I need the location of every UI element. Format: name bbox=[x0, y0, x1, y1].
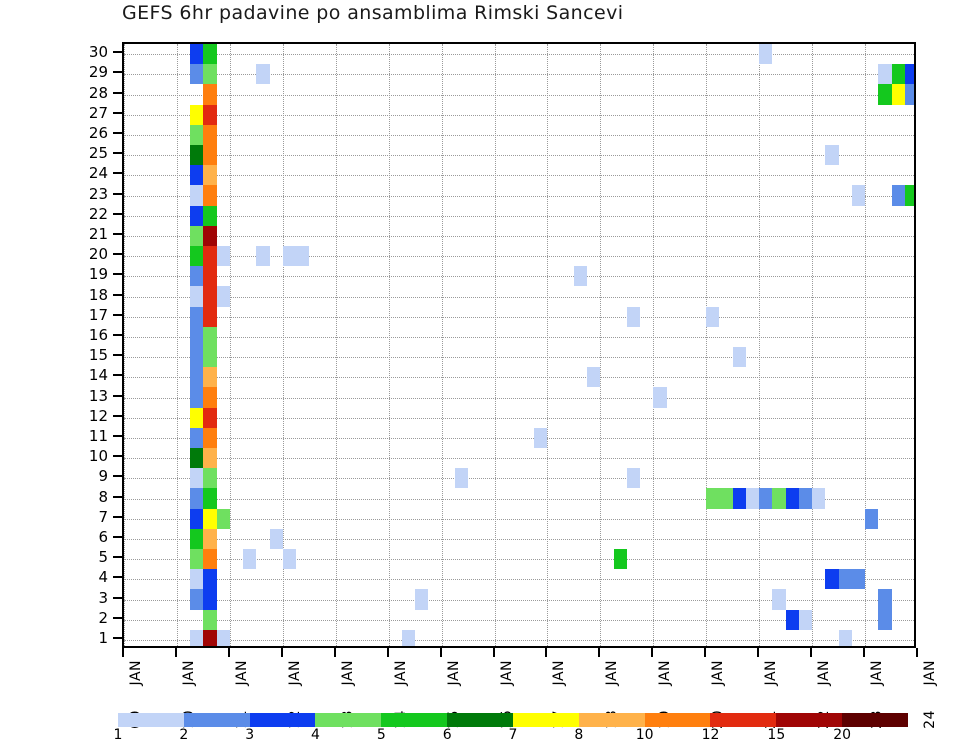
heatmap-cell bbox=[203, 509, 216, 529]
colorbar-tick-label: 20 bbox=[833, 727, 851, 743]
heatmap-cell bbox=[190, 509, 203, 529]
heatmap-cell bbox=[799, 488, 812, 508]
heatmap-cell bbox=[190, 105, 203, 125]
heatmap-cell bbox=[190, 165, 203, 185]
y-tick-mark bbox=[113, 92, 122, 94]
heatmap-cell bbox=[190, 367, 203, 387]
y-tick-label: 10 bbox=[89, 447, 108, 465]
heatmap-cell bbox=[402, 630, 415, 648]
x-tick-mark bbox=[122, 648, 124, 657]
y-tick-label: 27 bbox=[89, 104, 108, 122]
heatmap-cell bbox=[217, 246, 230, 266]
heatmap-cell bbox=[203, 206, 216, 226]
y-tick-label: 3 bbox=[98, 589, 108, 607]
y-tick-mark bbox=[113, 556, 122, 558]
x-tick-month-label: JAN bbox=[393, 660, 409, 685]
y-tick-mark bbox=[113, 516, 122, 518]
x-tick-month-label: JAN bbox=[128, 660, 144, 685]
y-tick-mark bbox=[113, 334, 122, 336]
gefs-precipitation-ensemble-chart: GEFS 6hr padavine po ansamblima Rimski S… bbox=[0, 0, 960, 742]
heatmap-cell bbox=[772, 488, 785, 508]
colorbar-band bbox=[184, 713, 250, 727]
heatmap-cell bbox=[190, 185, 203, 205]
heatmap-cell bbox=[786, 488, 799, 508]
heatmap-cell bbox=[190, 468, 203, 488]
heatmap-cell bbox=[203, 226, 216, 246]
y-tick-label: 29 bbox=[89, 63, 108, 81]
heatmap-cell bbox=[203, 125, 216, 145]
colorbar-band bbox=[447, 713, 513, 727]
heatmap-cell bbox=[190, 206, 203, 226]
heatmap-cell bbox=[706, 307, 719, 327]
colorbar-tick-label: 10 bbox=[636, 727, 654, 743]
x-tick-month-label: JAN bbox=[551, 660, 567, 685]
y-tick-label: 20 bbox=[89, 245, 108, 263]
y-tick-label: 17 bbox=[89, 306, 108, 324]
heatmap-cell bbox=[203, 448, 216, 468]
x-tick-mark bbox=[281, 648, 283, 657]
colorbar bbox=[118, 713, 908, 727]
heatmap-cell bbox=[203, 185, 216, 205]
heatmap-cell bbox=[203, 286, 216, 306]
heatmap-cell bbox=[772, 589, 785, 609]
heatmap-cell bbox=[614, 549, 627, 569]
y-tick-mark bbox=[113, 637, 122, 639]
heatmap-cell bbox=[190, 589, 203, 609]
colorbar-band bbox=[118, 713, 184, 727]
colorbar-band bbox=[579, 713, 645, 727]
x-tick-month-label: JAN bbox=[657, 660, 673, 685]
heatmap-cell bbox=[203, 44, 216, 64]
heatmap-cell bbox=[455, 468, 468, 488]
heatmap-cell bbox=[733, 347, 746, 367]
colorbar-band bbox=[315, 713, 381, 727]
heatmap-cell bbox=[190, 529, 203, 549]
colorbar-tick-label: 15 bbox=[767, 727, 785, 743]
heatmap-cell bbox=[190, 428, 203, 448]
heatmap-cell bbox=[905, 64, 916, 84]
y-tick-label: 15 bbox=[89, 346, 108, 364]
colorbar-band bbox=[381, 713, 447, 727]
heatmap-cells bbox=[124, 44, 914, 646]
y-tick-mark bbox=[113, 314, 122, 316]
y-tick-mark bbox=[113, 273, 122, 275]
x-tick-month-label: JAN bbox=[287, 660, 303, 685]
heatmap-cell bbox=[534, 428, 547, 448]
x-tick-mark bbox=[228, 648, 230, 657]
y-tick-mark bbox=[113, 617, 122, 619]
x-tick-month-label: JAN bbox=[499, 660, 515, 685]
colorbar-band bbox=[250, 713, 316, 727]
y-tick-mark bbox=[113, 475, 122, 477]
x-tick-mark bbox=[651, 648, 653, 657]
heatmap-cell bbox=[217, 630, 230, 648]
heatmap-cell bbox=[733, 488, 746, 508]
y-tick-mark bbox=[113, 112, 122, 114]
heatmap-cell bbox=[203, 367, 216, 387]
heatmap-cell bbox=[759, 44, 772, 64]
x-tick-mark bbox=[704, 648, 706, 657]
y-tick-label: 9 bbox=[98, 467, 108, 485]
heatmap-cell bbox=[270, 529, 283, 549]
colorbar-tick-label: 6 bbox=[443, 727, 452, 743]
colorbar-tick-labels: 1234567810121520 bbox=[118, 727, 908, 745]
heatmap-cell bbox=[203, 488, 216, 508]
heatmap-cell bbox=[878, 610, 891, 630]
y-tick-label: 6 bbox=[98, 528, 108, 546]
heatmap-cell bbox=[190, 387, 203, 407]
heatmap-cell bbox=[203, 610, 216, 630]
y-tick-label: 26 bbox=[89, 124, 108, 142]
heatmap-cell bbox=[190, 569, 203, 589]
x-tick-month-label: JAN bbox=[763, 660, 779, 685]
x-tick-mark bbox=[334, 648, 336, 657]
y-tick-mark bbox=[113, 253, 122, 255]
heatmap-cell bbox=[190, 44, 203, 64]
x-tick-month-label: JAN bbox=[340, 660, 356, 685]
x-tick-mark bbox=[916, 648, 918, 657]
heatmap-cell bbox=[190, 145, 203, 165]
y-tick-mark bbox=[113, 172, 122, 174]
y-tick-mark bbox=[113, 374, 122, 376]
x-tick-mark bbox=[175, 648, 177, 657]
y-tick-mark bbox=[113, 415, 122, 417]
y-tick-label: 22 bbox=[89, 205, 108, 223]
heatmap-cell bbox=[203, 307, 216, 327]
y-tick-mark bbox=[113, 213, 122, 215]
heatmap-cell bbox=[825, 145, 838, 165]
heatmap-cell bbox=[203, 589, 216, 609]
heatmap-cell bbox=[627, 307, 640, 327]
heatmap-cell bbox=[852, 185, 865, 205]
x-tick-month-label: JAN bbox=[181, 660, 197, 685]
y-tick-mark bbox=[113, 233, 122, 235]
heatmap-cell bbox=[786, 610, 799, 630]
heatmap-cell bbox=[190, 307, 203, 327]
y-axis: 3029282726252423222120191817161514131211… bbox=[60, 42, 122, 648]
x-tick-mark bbox=[863, 648, 865, 657]
heatmap-cell bbox=[839, 630, 852, 648]
y-tick-mark bbox=[113, 354, 122, 356]
plot-area bbox=[122, 42, 916, 648]
heatmap-cell bbox=[203, 64, 216, 84]
heatmap-cell bbox=[190, 286, 203, 306]
heatmap-cell bbox=[574, 266, 587, 286]
heatmap-cell bbox=[190, 488, 203, 508]
heatmap-cell bbox=[190, 448, 203, 468]
colorbar-tick-label: 3 bbox=[245, 727, 254, 743]
heatmap-cell bbox=[812, 488, 825, 508]
heatmap-cell bbox=[203, 408, 216, 428]
colorbar-tick-label: 8 bbox=[574, 727, 583, 743]
y-tick-label: 23 bbox=[89, 185, 108, 203]
x-tick-mark bbox=[545, 648, 547, 657]
heatmap-cell bbox=[627, 468, 640, 488]
heatmap-cell bbox=[203, 428, 216, 448]
x-tick-month-label: JAN bbox=[710, 660, 726, 685]
heatmap-cell bbox=[653, 387, 666, 407]
y-tick-label: 21 bbox=[89, 225, 108, 243]
x-tick-mark bbox=[493, 648, 495, 657]
y-tick-label: 1 bbox=[98, 629, 108, 647]
heatmap-cell bbox=[203, 630, 216, 648]
heatmap-cell bbox=[190, 246, 203, 266]
heatmap-cell bbox=[283, 549, 296, 569]
y-tick-mark bbox=[113, 152, 122, 154]
x-tick-month-label: JAN bbox=[869, 660, 885, 685]
x-tick-month-label: JAN bbox=[604, 660, 620, 685]
y-tick-label: 14 bbox=[89, 366, 108, 384]
y-tick-mark bbox=[113, 294, 122, 296]
heatmap-cell bbox=[799, 610, 812, 630]
colorbar-band bbox=[842, 713, 908, 727]
colorbar-tick-label: 12 bbox=[702, 727, 720, 743]
y-tick-label: 28 bbox=[89, 84, 108, 102]
heatmap-cell bbox=[892, 84, 905, 104]
y-tick-mark bbox=[113, 435, 122, 437]
heatmap-cell bbox=[203, 529, 216, 549]
colorbar-tick-label: 7 bbox=[509, 727, 518, 743]
y-tick-label: 8 bbox=[98, 488, 108, 506]
heatmap-cell bbox=[190, 630, 203, 648]
y-tick-label: 2 bbox=[98, 609, 108, 627]
heatmap-cell bbox=[190, 226, 203, 246]
x-tick-month-label: JAN bbox=[922, 660, 938, 685]
heatmap-cell bbox=[190, 64, 203, 84]
y-tick-label: 25 bbox=[89, 144, 108, 162]
y-tick-mark bbox=[113, 536, 122, 538]
heatmap-cell bbox=[203, 549, 216, 569]
chart-title: GEFS 6hr padavine po ansamblima Rimski S… bbox=[122, 2, 922, 24]
y-tick-label: 4 bbox=[98, 568, 108, 586]
colorbar-band bbox=[776, 713, 842, 727]
x-tick-mark bbox=[757, 648, 759, 657]
heatmap-cell bbox=[217, 286, 230, 306]
y-tick-label: 5 bbox=[98, 548, 108, 566]
y-tick-label: 18 bbox=[89, 286, 108, 304]
y-tick-mark bbox=[113, 132, 122, 134]
x-tick-month-label: JAN bbox=[446, 660, 462, 685]
y-tick-mark bbox=[113, 597, 122, 599]
x-tick-month-label: JAN bbox=[234, 660, 250, 685]
y-tick-mark bbox=[113, 51, 122, 53]
heatmap-cell bbox=[878, 589, 891, 609]
y-tick-label: 16 bbox=[89, 326, 108, 344]
heatmap-cell bbox=[217, 509, 230, 529]
heatmap-cell bbox=[190, 408, 203, 428]
heatmap-cell bbox=[256, 246, 269, 266]
colorbar-tick-label: 4 bbox=[311, 727, 320, 743]
heatmap-cell bbox=[892, 185, 905, 205]
heatmap-cell bbox=[190, 266, 203, 286]
y-tick-mark bbox=[113, 576, 122, 578]
heatmap-cell bbox=[415, 589, 428, 609]
colorbar-tick-label: 5 bbox=[377, 727, 386, 743]
heatmap-cell bbox=[203, 266, 216, 286]
heatmap-cell bbox=[878, 64, 891, 84]
heatmap-cell bbox=[905, 84, 916, 104]
heatmap-cell bbox=[878, 84, 891, 104]
y-tick-label: 13 bbox=[89, 387, 108, 405]
heatmap-cell bbox=[587, 367, 600, 387]
y-tick-mark bbox=[113, 455, 122, 457]
heatmap-cell bbox=[746, 488, 759, 508]
colorbar-band bbox=[513, 713, 579, 727]
y-tick-label: 7 bbox=[98, 508, 108, 526]
y-tick-label: 12 bbox=[89, 407, 108, 425]
heatmap-cell bbox=[865, 509, 878, 529]
heatmap-cell bbox=[203, 468, 216, 488]
y-tick-label: 19 bbox=[89, 265, 108, 283]
colorbar-band bbox=[710, 713, 776, 727]
heatmap-cell bbox=[203, 105, 216, 125]
y-tick-mark bbox=[113, 193, 122, 195]
heatmap-cell bbox=[203, 347, 216, 367]
heatmap-cell bbox=[190, 125, 203, 145]
heatmap-cell bbox=[706, 488, 732, 508]
heatmap-cell bbox=[283, 246, 309, 266]
x-tick-mark bbox=[810, 648, 812, 657]
heatmap-cell bbox=[905, 185, 916, 205]
y-tick-mark bbox=[113, 395, 122, 397]
x-tick-mark bbox=[598, 648, 600, 657]
heatmap-cell bbox=[203, 145, 216, 165]
heatmap-cell bbox=[190, 549, 203, 569]
heatmap-cell bbox=[203, 327, 216, 347]
colorbar-tick-label: 2 bbox=[179, 727, 188, 743]
y-tick-mark bbox=[113, 496, 122, 498]
heatmap-cell bbox=[203, 84, 216, 104]
heatmap-cell bbox=[203, 165, 216, 185]
heatmap-cell bbox=[759, 488, 772, 508]
heatmap-cell bbox=[203, 246, 216, 266]
y-tick-label: 24 bbox=[89, 164, 108, 182]
y-tick-label: 30 bbox=[89, 43, 108, 61]
x-tick-month-label: JAN bbox=[816, 660, 832, 685]
colorbar-tick-label: 1 bbox=[114, 727, 123, 743]
heatmap-cell bbox=[190, 347, 203, 367]
heatmap-cell bbox=[839, 569, 865, 589]
heatmap-cell bbox=[256, 64, 269, 84]
x-tick-mark bbox=[387, 648, 389, 657]
heatmap-cell bbox=[243, 549, 256, 569]
y-tick-mark bbox=[113, 71, 122, 73]
y-tick-label: 11 bbox=[89, 427, 108, 445]
heatmap-cell bbox=[190, 327, 203, 347]
x-tick-mark bbox=[440, 648, 442, 657]
heatmap-cell bbox=[203, 387, 216, 407]
heatmap-cell bbox=[203, 569, 216, 589]
heatmap-cell bbox=[825, 569, 838, 589]
x-tick-day-label: 24 bbox=[922, 710, 938, 729]
heatmap-cell bbox=[892, 64, 905, 84]
colorbar-band bbox=[645, 713, 711, 727]
